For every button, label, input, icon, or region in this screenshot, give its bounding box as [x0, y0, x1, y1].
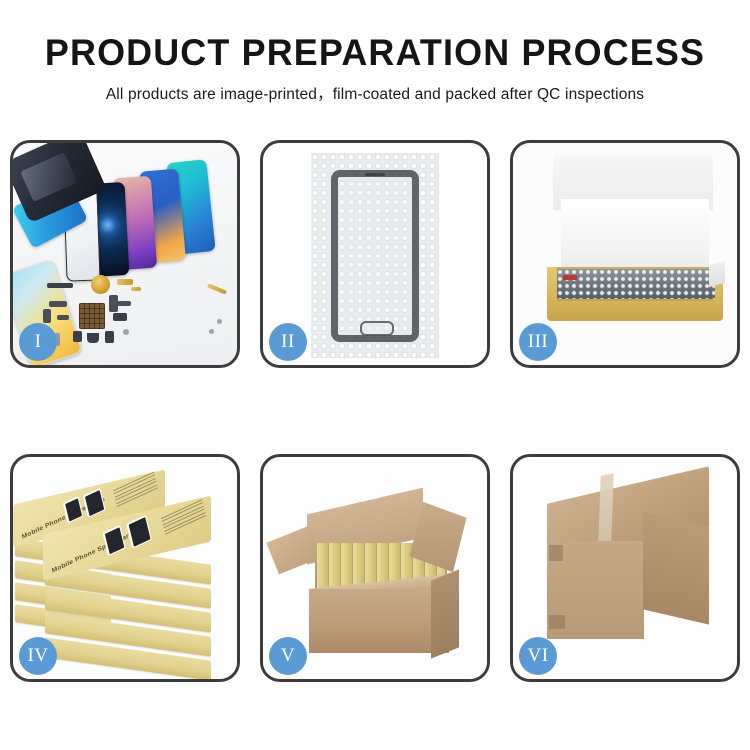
- flex-part: [47, 283, 73, 288]
- page-subtitle: All products are image-printed，film-coat…: [0, 82, 750, 104]
- chip-grid: [79, 303, 105, 329]
- flex-cable: [117, 301, 131, 306]
- bubble-wrap-sheet: [311, 153, 439, 358]
- header: PRODUCT PREPARATION PROCESS All products…: [0, 0, 750, 104]
- process-steps-grid: I II: [10, 140, 740, 682]
- flex-cable: [43, 309, 51, 323]
- step-badge-3: III: [519, 323, 557, 361]
- product-preparation-infographic: PRODUCT PREPARATION PROCESS All products…: [0, 0, 750, 750]
- step-badge-4: IV: [19, 637, 57, 675]
- product-thumbnail: [102, 525, 125, 556]
- flex-cable: [49, 301, 67, 307]
- step-panel-bubble-wrapping: II: [260, 140, 490, 368]
- step-badge-1: I: [19, 323, 57, 361]
- gold-connector: [131, 287, 141, 291]
- product-thumbnail: [83, 488, 106, 518]
- flex-cable: [57, 315, 69, 320]
- front-glass-panel: [331, 170, 419, 342]
- screw-part: [209, 329, 214, 334]
- product-thumbnail: [63, 496, 84, 523]
- connector-part: [113, 313, 127, 321]
- gold-coil-icon: [91, 275, 110, 294]
- carton-handle-notch: [549, 545, 563, 561]
- step-panel-product-range: I: [10, 140, 240, 368]
- box-lid-spec-lines: [161, 499, 207, 538]
- step-panel-carton-loading: V: [260, 454, 490, 682]
- step-badge-2: II: [269, 323, 307, 361]
- sealed-carton-side: [643, 511, 709, 624]
- box-lid-spec-lines: [113, 472, 159, 511]
- wrapped-screen: [557, 269, 715, 299]
- connector-part: [87, 333, 99, 343]
- product-thumbnail: [126, 515, 152, 549]
- connector-part: [73, 331, 82, 342]
- phone-screens-fan: [13, 143, 97, 209]
- step-panel-box-stacking: Mobile Phone Spare Parts Mobile Phone Sp…: [10, 454, 240, 682]
- step-badge-6: VI: [519, 637, 557, 675]
- gold-connector: [117, 279, 133, 285]
- white-foam-insert: [561, 199, 709, 274]
- step-panel-carton-sealed: VI: [510, 454, 740, 682]
- sealed-carton-front: [547, 541, 644, 639]
- carton-side-panel: [431, 569, 459, 658]
- earpiece-slot: [365, 173, 385, 176]
- connector-part: [105, 331, 114, 343]
- open-shipping-carton: [309, 589, 449, 653]
- carton-handle-notch: [549, 615, 565, 629]
- screw-part: [217, 319, 222, 324]
- box-side-flap: [709, 261, 725, 288]
- screw-part: [123, 329, 129, 335]
- step-badge-5: V: [269, 637, 307, 675]
- step-panel-box-packing: III: [510, 140, 740, 368]
- page-title: PRODUCT PREPARATION PROCESS: [11, 34, 739, 73]
